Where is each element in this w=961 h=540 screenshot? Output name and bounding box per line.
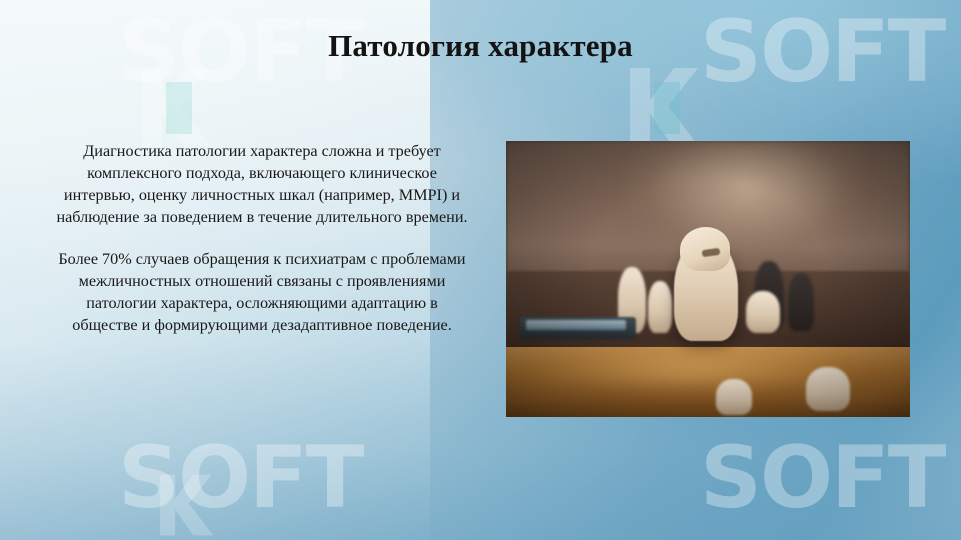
watermark-text: SOFT — [118, 428, 362, 528]
slide-image — [506, 141, 910, 417]
body-paragraph-1: Диагностика патологии характера сложна и… — [52, 140, 472, 228]
slide-body-text: Диагностика патологии характера сложна и… — [52, 140, 472, 336]
watermark-text: SOFT — [700, 428, 944, 528]
watermark-logo-icon — [150, 470, 220, 540]
presentation-slide: SOFT SOFT SOFT SOFT Патология характера … — [0, 0, 961, 540]
image-vignette — [506, 141, 910, 417]
body-paragraph-2: Более 70% случаев обращения к психиатрам… — [52, 248, 472, 336]
slide-title: Патология характера — [0, 28, 961, 64]
